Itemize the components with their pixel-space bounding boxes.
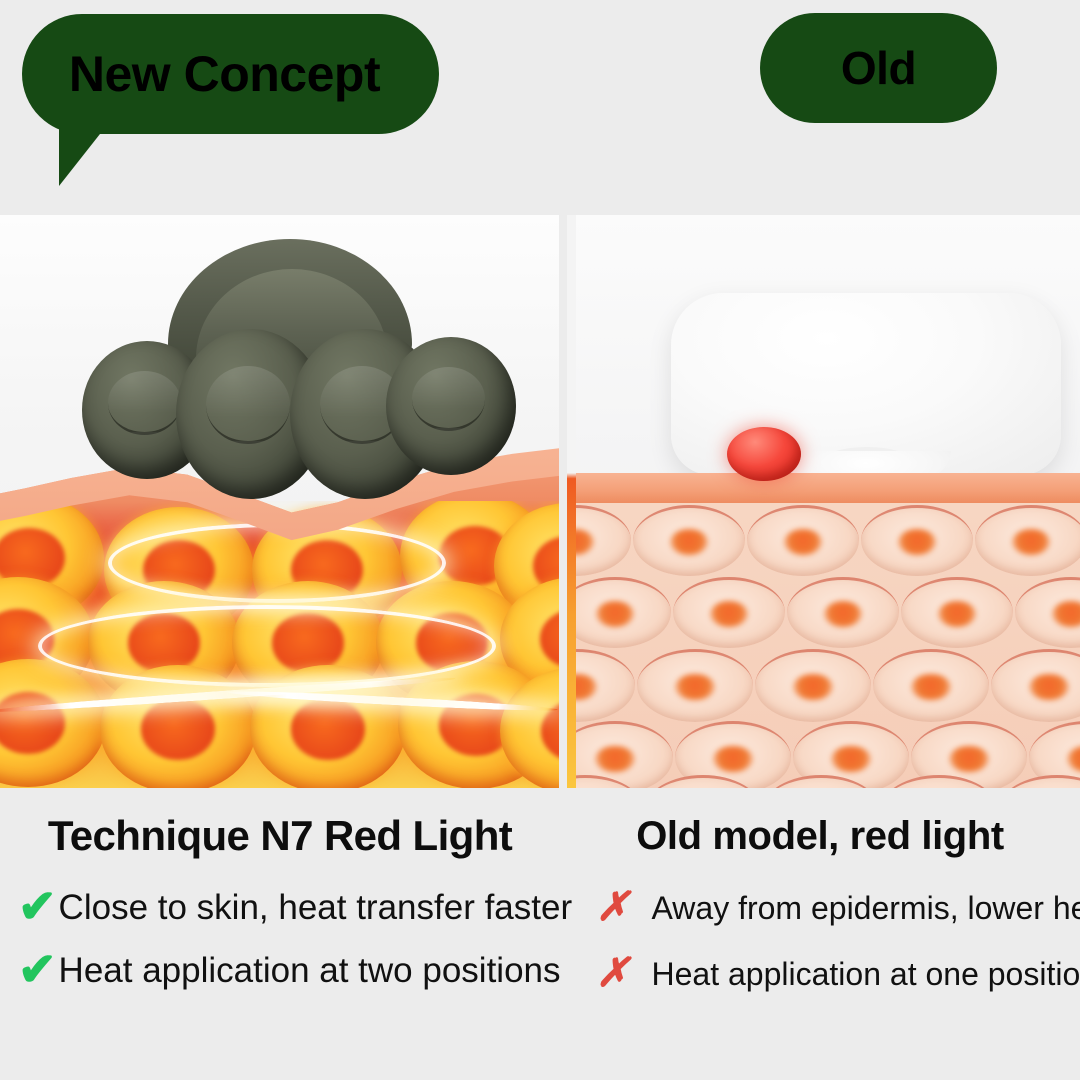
bullet-text: Close to skin, heat transfer faster [59,888,573,928]
bullet-text: Heat application at one position [652,956,1080,993]
fat-cell [633,505,745,576]
check-icon: ✔ [18,946,57,992]
fat-cell [991,649,1080,722]
column-old-title: Old model, red light [560,814,1080,859]
cell-nucleus [1012,529,1050,555]
panel-new-concept-image [0,215,559,788]
fat-cell [567,649,635,722]
bullet-text: Away from epidermis, lower heat [652,890,1080,927]
massage-node [386,337,516,475]
check-icon: ✔ [18,883,57,929]
cross-icon: ✗ [596,887,630,927]
cell-nucleus [540,609,559,669]
light-ring [38,605,496,687]
cell-nucleus [831,746,870,773]
badge-new-concept-label: New Concept [69,45,380,103]
cell-nucleus [1067,746,1080,773]
cell-nucleus [595,746,634,773]
red-led-icon [727,427,801,481]
cell-nucleus [793,674,832,701]
light-ring [108,523,446,603]
column-old-bullets: ✗ Away from epidermis, lower heat ✗ Heat… [560,875,1080,1007]
epidermis-layer-old [567,473,1080,503]
cell-nucleus [1052,601,1080,627]
cell-nucleus [141,698,216,759]
cell-nucleus [710,601,748,627]
fat-cell [861,505,973,576]
fat-cell-grid-old [567,503,1080,788]
cell-nucleus [291,698,366,759]
cell-nucleus [784,529,822,555]
speech-bubble-tail-icon [59,120,111,186]
cell-nucleus [949,746,988,773]
bullet-item: ✗ Heat application at one position [560,941,1080,1007]
badge-old-label: Old [841,41,916,95]
panel-edge-sliver [567,215,576,788]
panel-old-model-image [567,215,1080,788]
fat-cell [567,577,671,648]
fat-cell [567,505,631,576]
cell-nucleus [713,746,752,773]
column-new-concept: Technique N7 Red Light ✔ Close to skin, … [0,788,560,1002]
fat-cell [755,649,871,722]
bullet-item: ✔ Close to skin, heat transfer faster [0,876,560,939]
column-new-bullets: ✔ Close to skin, heat transfer faster ✔ … [0,876,560,1002]
cell-nucleus [596,601,634,627]
node-dimple [412,367,485,431]
cell-nucleus [898,529,936,555]
cell-nucleus [0,692,65,753]
bullet-item: ✔ Heat application at two positions [0,939,560,1002]
fat-cell [787,577,899,648]
cell-nucleus [824,601,862,627]
comparison-image-row [0,215,1080,788]
fat-cell [747,505,859,576]
fat-cell [975,505,1080,576]
cell-nucleus [675,674,714,701]
fat-cell [0,659,106,787]
cell-nucleus [670,529,708,555]
infographic-page: New Concept Old [0,0,1080,1080]
node-dimple [206,366,290,444]
fat-cell [637,649,753,722]
cell-nucleus [1029,674,1068,701]
comparison-text-row: Technique N7 Red Light ✔ Close to skin, … [0,788,1080,1080]
node-dimple [108,371,181,435]
cell-nucleus [911,674,950,701]
bullet-text: Heat application at two positions [59,951,561,991]
old-model-illustration [567,215,1080,788]
fat-cell [673,577,785,648]
fat-cell [901,577,1013,648]
badge-old: Old [760,13,997,123]
cross-icon: ✗ [596,953,630,993]
cell-nucleus [938,601,976,627]
column-new-title: Technique N7 Red Light [0,812,560,860]
massager-head-device [50,225,520,525]
new-concept-illustration [0,215,559,788]
bullet-item: ✗ Away from epidermis, lower heat [560,875,1080,941]
fat-cell [1015,577,1080,648]
badge-new-concept: New Concept [22,14,439,134]
column-old-model: Old model, red light ✗ Away from epiderm… [560,788,1080,1007]
fat-cell [873,649,989,722]
fat-cell-grid-new [0,501,559,788]
